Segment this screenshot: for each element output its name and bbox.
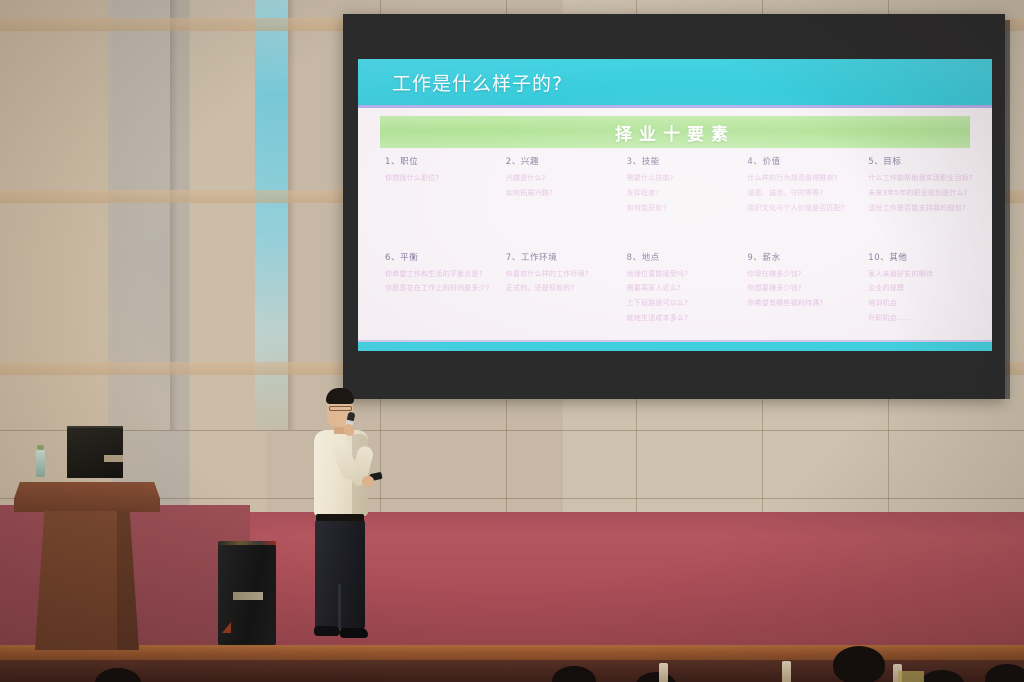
slide-title: 工作是什么样子的? [392,69,563,96]
factor-heading: 5、目标 [868,155,980,167]
factor-line: 上下班路途可以么? [627,298,739,309]
factor-item-9: 9、薪水 你现在赚多少钱? 你想要赚多少钱? 你希望有哪些福利待遇? [742,251,859,341]
factor-heading: 4、价值 [747,155,859,167]
speaker-brand-label [233,592,263,600]
factor-line: 道德、诚信、守时等等? [747,188,859,199]
factor-item-8: 8、地点 地理位置能接受吗? 需要离家人近么? 上下班路途可以么? 就地生活成本… [622,251,739,341]
factor-line: 什么样的行为规范值得推崇? [747,173,859,184]
factor-line: 你想要赚多少钱? [747,283,859,294]
factor-line: 家人亲朋好友的期待 [868,269,980,280]
presenter-belt [316,514,364,521]
factor-line: 你想找什么职位? [385,173,497,184]
factor-line: 你喜欢什么样的工作环境? [506,269,618,280]
audience-bottle [659,663,668,682]
podium [14,482,160,650]
presenter-hair [326,388,354,404]
factor-item-7: 7、工作环境 你喜欢什么样的工作环境? 正式的，还是轻松的? [501,251,618,341]
slide-title-underline [358,105,992,108]
factor-line: 组织文化与个人价值是否匹配? [747,203,859,214]
factor-item-4: 4、价值 什么样的行为规范值得推崇? 道德、诚信、守时等等? 组织文化与个人价值… [742,155,859,245]
factor-line: 培训机会 [868,298,980,309]
factor-line: 你愿意花在工作上的时间是多少? [385,283,497,294]
factor-item-5: 5、目标 什么工作能帮助我实现职业目标? 未来3年5年的职业规划是什么? 这份工… [863,155,980,245]
slide-bottom-bar [358,342,992,351]
presenter-shoe-left [314,626,340,636]
glasses-icon [329,406,352,411]
factor-line: 你希望工作和生活的平衡点是? [385,269,497,280]
factor-line: 升职机会…… [868,313,980,324]
factor-line: 就地生活成本多么? [627,313,739,324]
wall-seam-1 [0,430,1024,431]
podium-monitor [67,426,123,478]
presentation-slide: 工作是什么样子的? 择业十要素 1、职位 你想找什么职位? 2、兴趣 兴趣是什么… [358,59,992,351]
water-bottle [36,449,45,477]
factor-item-3: 3、技能 需要什么技能? 发挥程度? 如何能获取? [622,155,739,245]
audience-object [898,671,924,682]
factor-line: 需要什么技能? [627,173,739,184]
factor-line: 地理位置能接受吗? [627,269,739,280]
presenter [300,388,388,650]
factor-line: 你现在赚多少钱? [747,269,859,280]
presenter-leg-seam [338,584,341,630]
factor-heading: 10、其他 [868,251,980,263]
podium-body [35,511,139,650]
factor-line: 发挥程度? [627,188,739,199]
factor-heading: 8、地点 [627,251,739,263]
presenter-hand-right [362,476,374,487]
factor-line: 你希望有哪些福利待遇? [747,298,859,309]
podium-top [14,482,160,512]
factor-heading: 9、薪水 [747,251,859,263]
audience-bottle [782,661,791,682]
factor-line: 需要离家人近么? [627,283,739,294]
factor-line: 如何拓展兴趣? [506,188,618,199]
audience-head [833,646,885,682]
factor-line: 企业的规模 [868,283,980,294]
factor-heading: 1、职位 [385,155,497,167]
factor-line: 什么工作能帮助我实现职业目标? [868,173,980,184]
monitor-label [104,455,124,462]
auditorium-scene: 工作是什么样子的? 择业十要素 1、职位 你想找什么职位? 2、兴趣 兴趣是什么… [0,0,1024,682]
slide-title-bar: 工作是什么样子的? [358,59,992,105]
factor-heading: 7、工作环境 [506,251,618,263]
factor-heading: 2、兴趣 [506,155,618,167]
factor-item-1: 1、职位 你想找什么职位? [380,155,497,245]
slide-banner: 择业十要素 [380,116,970,148]
projection-screen-frame: 工作是什么样子的? 择业十要素 1、职位 你想找什么职位? 2、兴趣 兴趣是什么… [343,14,1005,399]
factor-heading: 6、平衡 [385,251,497,263]
slide-banner-text: 择业十要素 [615,120,735,145]
factor-line: 兴趣是什么? [506,173,618,184]
factor-item-10: 10、其他 家人亲朋好友的期待 企业的规模 培训机会 升职机会…… [863,251,980,341]
factor-item-2: 2、兴趣 兴趣是什么? 如何拓展兴趣? [501,155,618,245]
factor-heading: 3、技能 [627,155,739,167]
water-bottle-cap [37,445,44,450]
factor-item-6: 6、平衡 你希望工作和生活的平衡点是? 你愿意花在工作上的时间是多少? [380,251,497,341]
factor-line: 未来3年5年的职业规划是什么? [868,188,980,199]
slide-factor-grid: 1、职位 你想找什么职位? 2、兴趣 兴趣是什么? 如何拓展兴趣? 3、技能 需… [380,155,980,340]
factor-line: 这份工作是否能支持我的规划? [868,203,980,214]
factor-line: 正式的，还是轻松的? [506,283,618,294]
presenter-shoe-right [340,628,368,638]
factor-line: 如何能获取? [627,203,739,214]
speaker-accent [222,622,231,633]
